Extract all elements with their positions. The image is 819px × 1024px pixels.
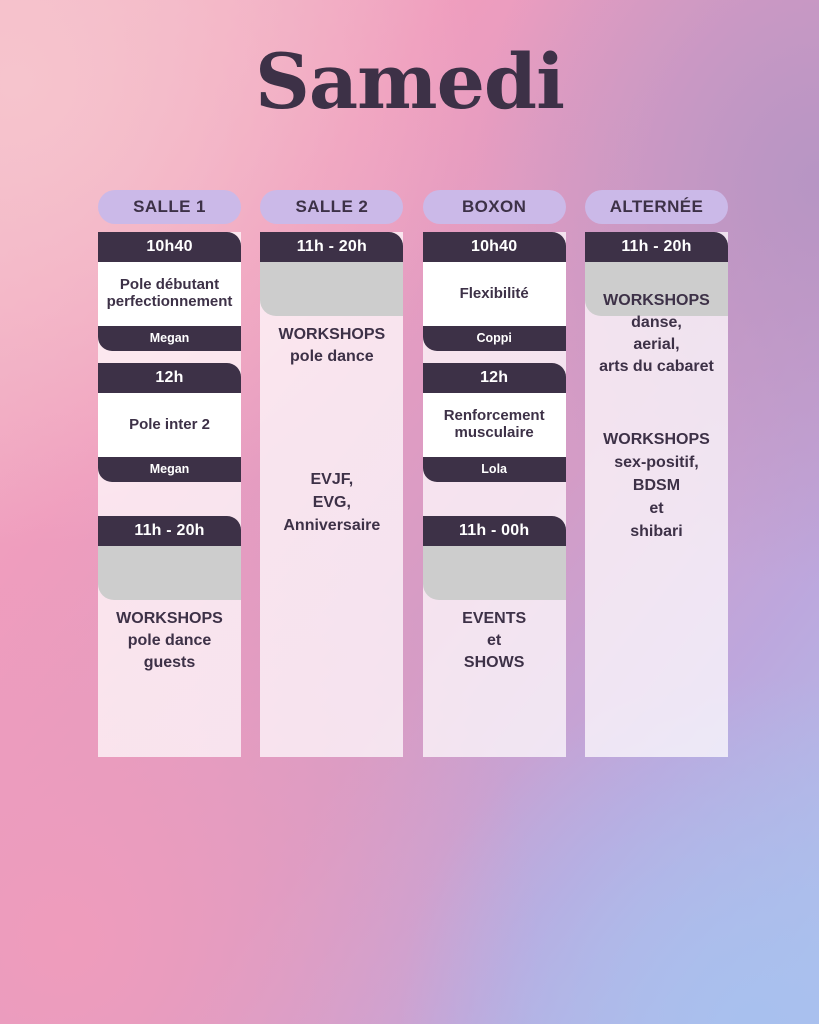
schedule-columns: SALLE 1 10h40 Pole débutant perfectionne… [98, 190, 728, 757]
event-line-3: Anniversaire [262, 514, 401, 537]
workshop-lead: WORKSHOPS [587, 290, 726, 312]
workshop-extra-line-4: shibari [587, 520, 726, 543]
class-instructor: Lola [423, 457, 566, 482]
class-card[interactable]: 12h Pole inter 2 Megan [98, 363, 241, 482]
workshop-text-block: WORKSHOPS sex-positif, BDSM et shibari [585, 428, 728, 543]
class-instructor: Megan [98, 457, 241, 482]
column-boxon: BOXON 10h40 Flexibilité Coppi 12h Renfor… [423, 190, 566, 757]
class-instructor: Coppi [423, 326, 566, 351]
workshop-time: 11h - 20h [585, 232, 728, 262]
workshop-line-1: pole dance [262, 346, 401, 368]
event-line-2: EVG, [262, 491, 401, 514]
workshop-line-2: guests [100, 652, 239, 674]
column-panel-boxon: 10h40 Flexibilité Coppi 12h Renforcement… [423, 232, 566, 757]
class-instructor: Megan [98, 326, 241, 351]
schedule-poster: Samedi SALLE 1 10h40 Pole débutant perfe… [0, 0, 819, 1024]
class-title: Renforcement musculaire [423, 393, 566, 457]
events-time: 11h - 00h [423, 516, 566, 546]
column-header-salle-1: SALLE 1 [98, 190, 241, 224]
workshop-lead: WORKSHOPS [100, 608, 239, 630]
column-salle-2: SALLE 2 11h - 20h WORKSHOPS pole dance E… [260, 190, 403, 757]
workshop-line-1: danse, [587, 312, 726, 334]
class-card[interactable]: 12h Renforcement musculaire Lola [423, 363, 566, 482]
events-image-placeholder [423, 546, 566, 600]
class-title: Flexibilité [423, 262, 566, 326]
class-title-line-1: Renforcement [444, 408, 545, 425]
class-title: Pole inter 2 [98, 393, 241, 457]
workshop-extra-lead: WORKSHOPS [587, 428, 726, 451]
workshop-line-3: arts du cabaret [587, 356, 726, 378]
events-line-1: et [425, 630, 564, 652]
column-spacer [98, 494, 241, 516]
workshop-line-1: pole dance [100, 630, 239, 652]
column-spacer [585, 382, 728, 428]
class-title: Pole débutant perfectionnement [98, 262, 241, 326]
workshop-extra-line-1: sex-positif, [587, 451, 726, 474]
class-title-line-2: perfectionnement [107, 294, 233, 311]
events-lead: EVENTS [425, 608, 564, 630]
events-text: EVENTS et SHOWS [423, 600, 566, 674]
workshop-block[interactable]: 11h - 20h WORKSHOPS danse, aerial, arts … [585, 232, 728, 378]
event-line-1: EVJF, [262, 468, 401, 491]
events-line-2: SHOWS [425, 652, 564, 674]
column-panel-salle-2: 11h - 20h WORKSHOPS pole dance EVJF, EVG… [260, 232, 403, 757]
workshop-image-placeholder [260, 262, 403, 316]
workshop-time: 11h - 20h [260, 232, 403, 262]
column-panel-alternee: 11h - 20h WORKSHOPS danse, aerial, arts … [585, 232, 728, 757]
workshop-extra-line-2: BDSM [587, 474, 726, 497]
workshop-text: WORKSHOPS danse, aerial, arts du cabaret [585, 290, 728, 378]
column-header-boxon: BOXON [423, 190, 566, 224]
class-title-line-1: Flexibilité [460, 286, 529, 303]
workshop-block[interactable]: 11h - 20h WORKSHOPS pole dance [260, 232, 403, 368]
workshop-image-placeholder [98, 546, 241, 600]
workshop-extra-line-3: et [587, 497, 726, 520]
workshop-block[interactable]: 11h - 20h WORKSHOPS pole dance guests [98, 516, 241, 674]
events-block[interactable]: 11h - 00h EVENTS et SHOWS [423, 516, 566, 674]
workshop-line-2: aerial, [587, 334, 726, 356]
column-header-alternee: ALTERNÉE [585, 190, 728, 224]
class-card[interactable]: 10h40 Flexibilité Coppi [423, 232, 566, 351]
class-time: 10h40 [98, 232, 241, 262]
class-title-line-1: Pole débutant [120, 277, 219, 294]
workshop-text: WORKSHOPS pole dance [260, 316, 403, 368]
column-salle-1: SALLE 1 10h40 Pole débutant perfectionne… [98, 190, 241, 757]
class-title-line-1: Pole inter 2 [129, 417, 210, 434]
column-alternee: ALTERNÉE 11h - 20h WORKSHOPS danse, aeri… [585, 190, 728, 757]
class-title-line-2: musculaire [455, 425, 534, 442]
class-time: 12h [423, 363, 566, 393]
column-header-salle-2: SALLE 2 [260, 190, 403, 224]
column-spacer [423, 494, 566, 516]
column-panel-salle-1: 10h40 Pole débutant perfectionnement Meg… [98, 232, 241, 757]
workshop-time: 11h - 20h [98, 516, 241, 546]
workshop-text: WORKSHOPS pole dance guests [98, 600, 241, 674]
page-title: Samedi [0, 44, 819, 120]
class-time: 12h [98, 363, 241, 393]
class-card[interactable]: 10h40 Pole débutant perfectionnement Meg… [98, 232, 241, 351]
column-spacer [260, 372, 403, 468]
event-text-block: EVJF, EVG, Anniversaire [260, 468, 403, 537]
workshop-lead: WORKSHOPS [262, 324, 401, 346]
class-time: 10h40 [423, 232, 566, 262]
